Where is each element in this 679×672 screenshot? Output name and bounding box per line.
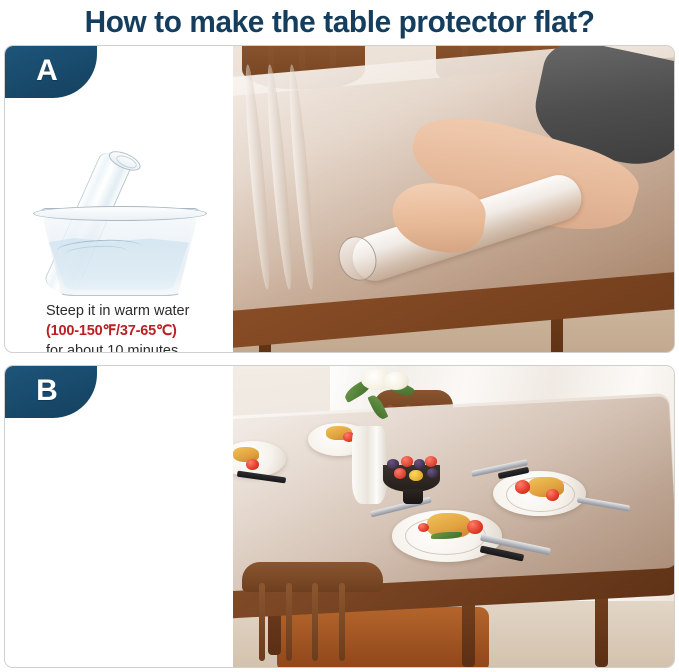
photo-b-lemon [409,470,422,481]
photo-b-grape [414,459,425,469]
photo-b-fruit-bowl-foot [403,489,423,504]
photo-b-chair-spindle [339,583,345,661]
step-a-caption: Steep it in warm water (100-150℉/37-65℃)… [5,301,274,353]
step-a-photo [233,46,674,352]
photo-b-rug [277,607,489,667]
photo-b-cherry [401,456,413,466]
page-title: How to make the table protector flat? [85,4,595,40]
page-header: How to make the table protector flat? [0,0,679,44]
basin-illustration [5,150,233,300]
photo-b-chair-spindle [259,583,265,661]
photo-b-cherry [394,468,406,478]
step-badge-letter-a: A [36,56,58,86]
basin-rim-icon [33,206,207,221]
photo-b-tomato [418,523,429,532]
step-panel-b: B [4,365,675,668]
caption-line-1: Steep it in warm water [46,301,274,321]
photo-b-cherry [425,456,437,466]
caption-line-temperature: (100-150℉/37-65℃) [46,321,274,341]
photo-b-tomato [546,489,559,500]
step-badge-letter-b: B [36,376,58,406]
caption-line-3: for about 10 minutes. [46,341,274,353]
step-panel-a: A Steep it in warm water (100-150℉/37-65… [4,45,675,353]
photo-b-tomato [515,480,530,493]
step-b-photo [233,366,674,667]
photo-b-chair-spindle [312,583,318,661]
photo-b-chair-spindle [286,583,292,661]
photo-b-tomato [467,520,483,534]
